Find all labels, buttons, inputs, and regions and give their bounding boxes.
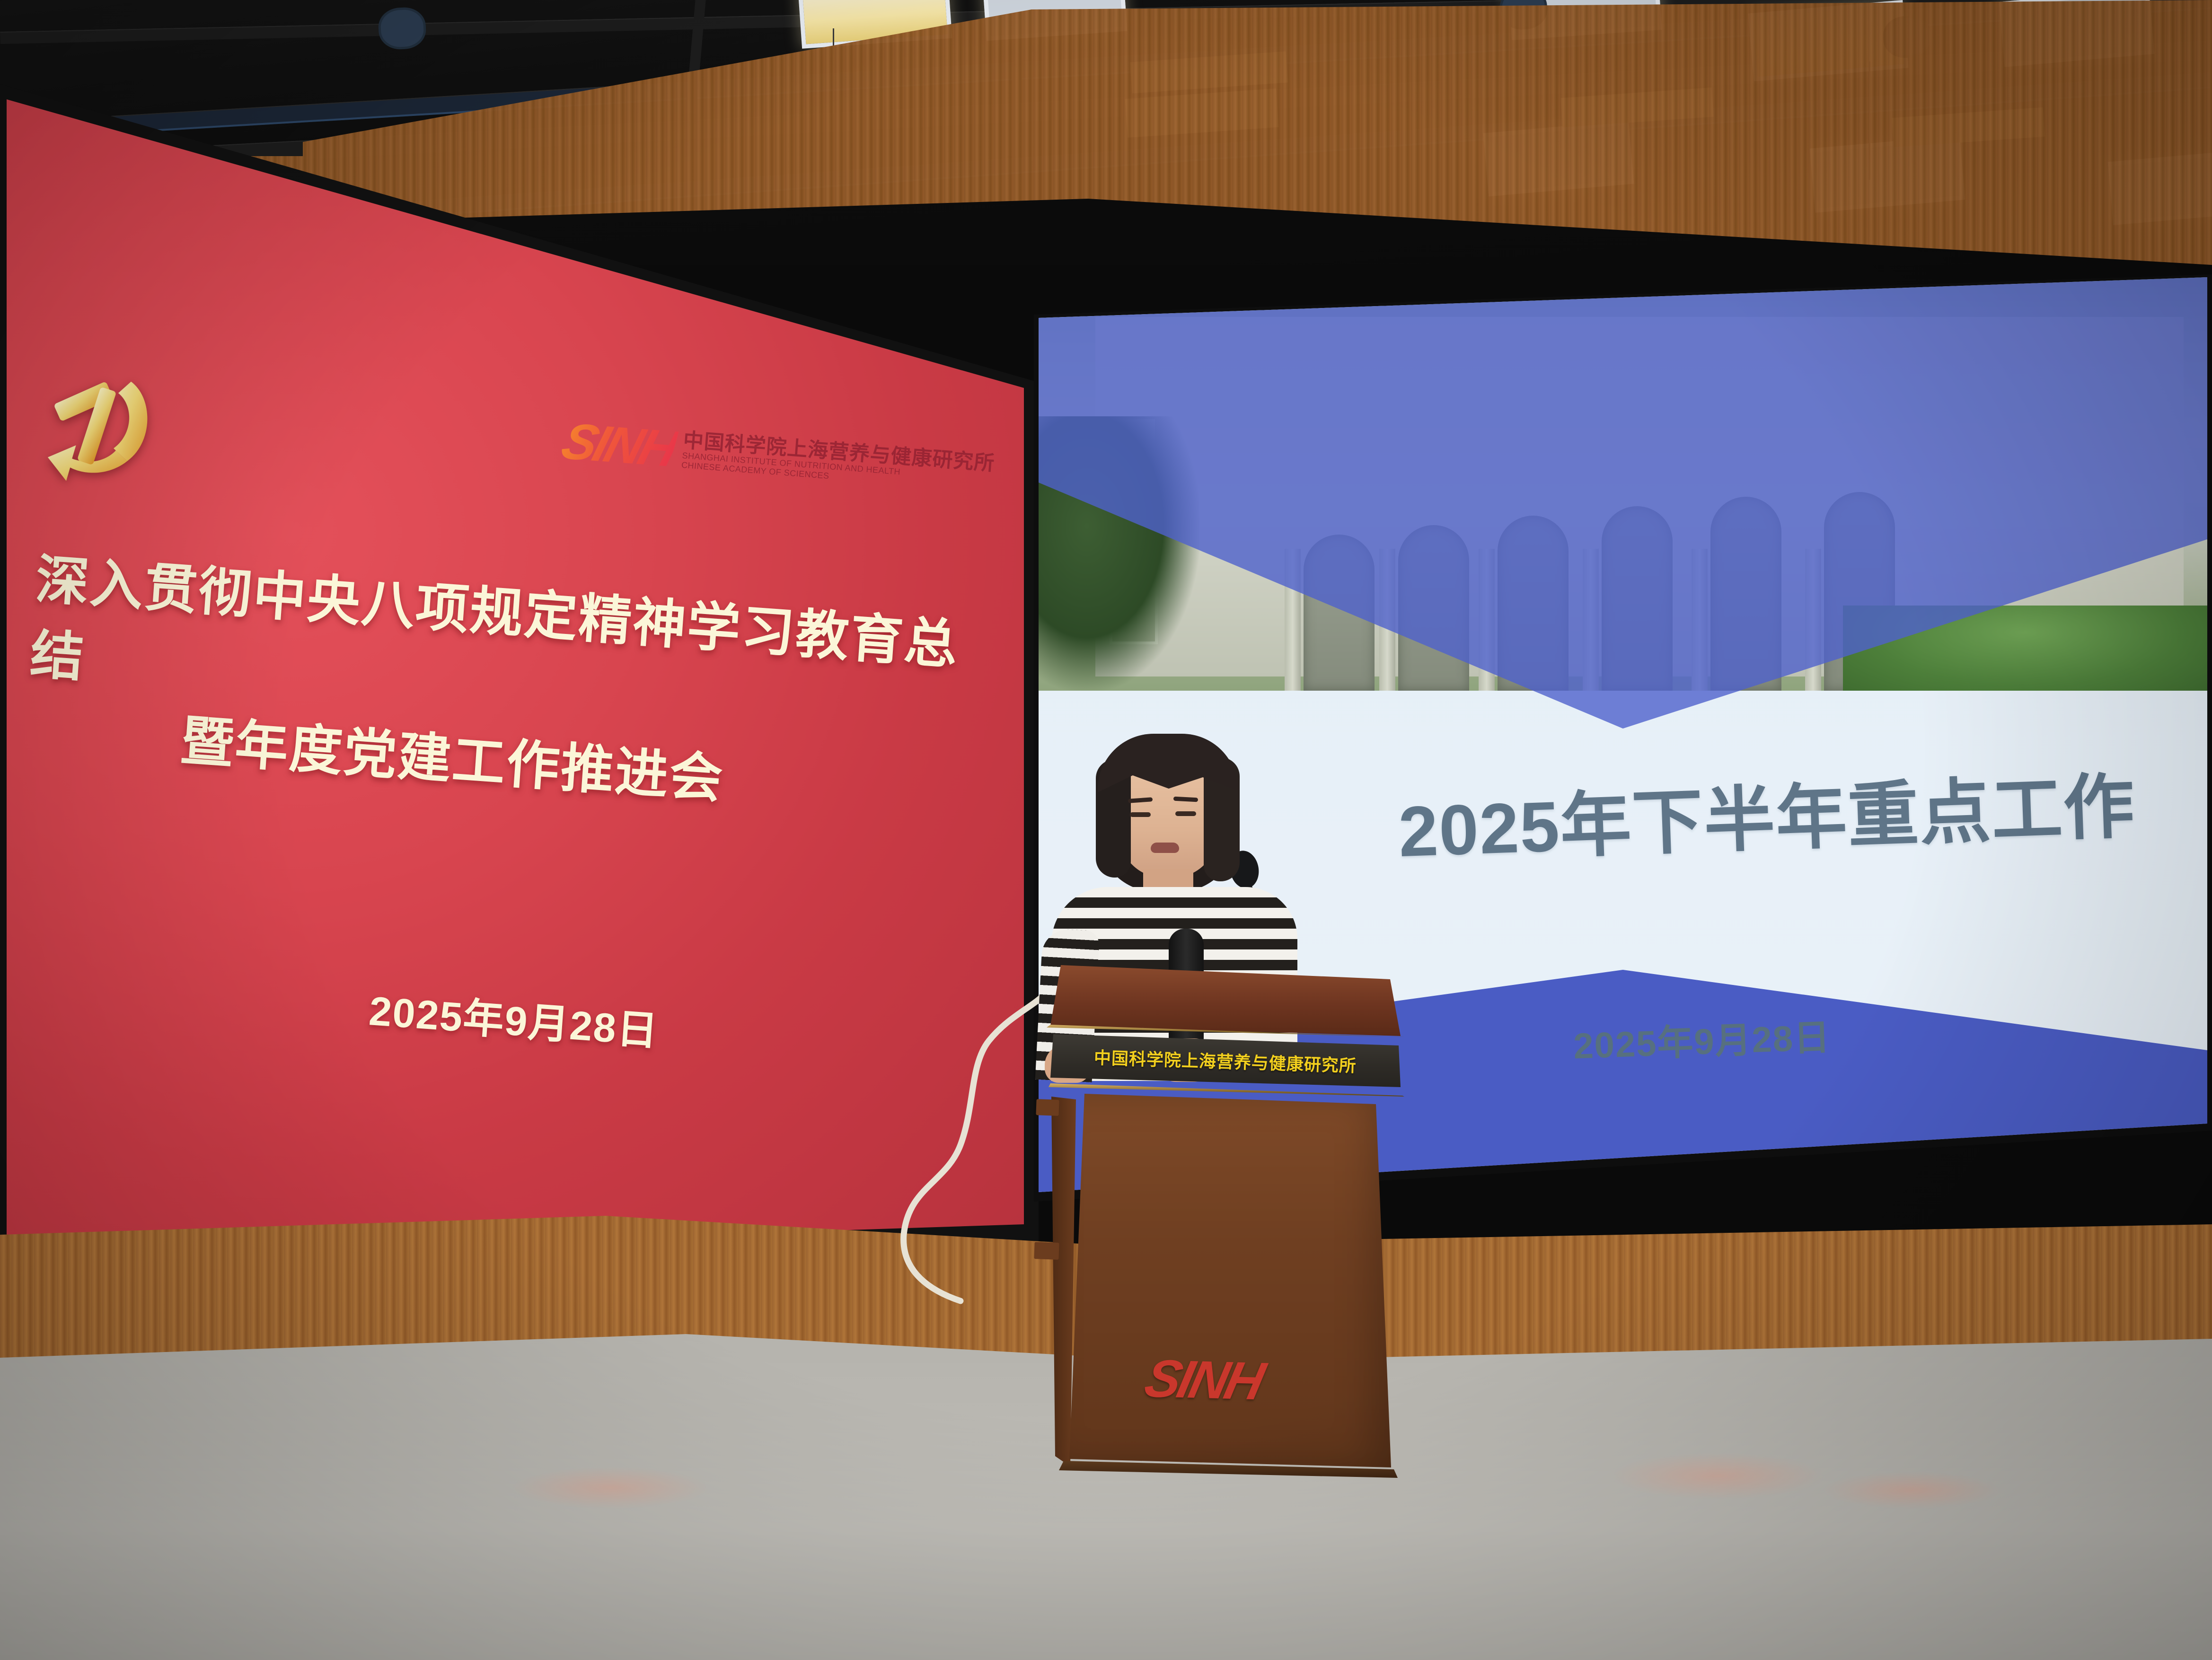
floor-light-reflection (511, 1467, 710, 1509)
ceiling-spotlight (378, 6, 427, 50)
lectern: 中国科学院上海营养与健康研究所 SINH (1036, 965, 1415, 1490)
sinh-wordmark: SINH (555, 412, 682, 478)
slide-date-right: 2025年9月28日 (1572, 1008, 1831, 1069)
lectern-ledge (1036, 1099, 1059, 1116)
conference-hall-photo: SINH 中国科学院上海营养与健康研究所 SHANGHAI INSTITUTE … (0, 0, 2212, 1660)
lectern-ledge (1034, 1242, 1059, 1260)
lectern-nameplate: 中国科学院上海营养与健康研究所 (1050, 1034, 1401, 1087)
hammer-and-sickle-icon (29, 363, 166, 495)
lectern-desktop (1050, 965, 1401, 1036)
eye-left (1130, 812, 1151, 817)
floor-light-reflection (1822, 1471, 2001, 1509)
lectern-nameplate-text: 中国科学院上海营养与健康研究所 (1094, 1044, 1357, 1077)
eye-right (1175, 811, 1196, 816)
mouth (1151, 843, 1179, 853)
slide-title-right: 2025年下半年重点工作 (1397, 749, 2137, 877)
lectern-front-panel: SINH (1065, 1094, 1391, 1467)
sinh-logo-lectern: SINH (1139, 1348, 1268, 1412)
floor-light-reflection (1609, 1452, 1826, 1500)
